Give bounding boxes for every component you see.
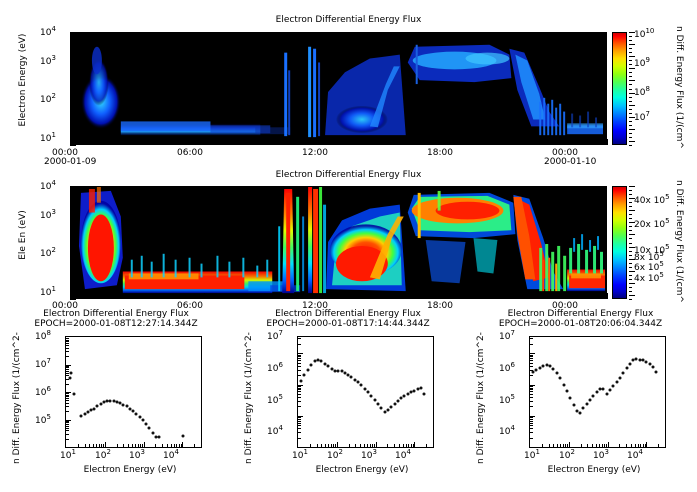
spectrogram-middle-xtick (365, 295, 366, 299)
spectrum-2-subtitle: EPOCH=2000-01-08T17:14:44.344Z (232, 319, 464, 329)
axis-tick (298, 428, 301, 429)
axis-tick (414, 442, 415, 447)
axis-tick (349, 444, 350, 447)
spectrum-2-xlabel: Electron Energy (eV) (272, 465, 452, 475)
data-point (182, 435, 185, 438)
spectrogram-top-ytick-2: 102 (40, 95, 56, 105)
spectrogram-middle-colorbar (612, 186, 627, 299)
axis-tick (530, 425, 533, 426)
data-point (595, 390, 598, 393)
data-point (148, 426, 151, 429)
axis-tick (530, 388, 533, 389)
spectrogram-middle-xtick (500, 295, 501, 299)
spectrogram-middle-ylabel: Ele En (eV) (18, 190, 28, 280)
axis-tick (298, 423, 301, 424)
axis-tick (66, 396, 69, 397)
spectrogram-middle-xtick (231, 295, 232, 299)
spectrogram-middle-colorbar-tick (629, 287, 632, 288)
axis-tick (66, 356, 69, 357)
spectrogram-middle-ytick (70, 274, 73, 275)
axis-tick (530, 338, 533, 339)
spectrogram-middle-ytick (70, 276, 73, 277)
spectrogram-top-xtick (231, 141, 232, 145)
axis-tick (298, 388, 301, 389)
spectrogram-middle-colorbar-tick-4: 4x 105 (634, 274, 664, 284)
spectrogram-top-colorbar-tick (629, 129, 635, 130)
axis-tick (66, 421, 69, 422)
spectrogram-top-ytick (70, 60, 73, 61)
axis-tick (337, 442, 338, 447)
axis-tick (179, 444, 180, 447)
spectrogram-top-colorbar-tick (629, 68, 635, 69)
panel-spectrogram-top: Electron Differential Energy Flux Electr… (0, 0, 697, 175)
spectrogram-middle-ytick (70, 192, 73, 193)
spectrogram-middle-xtick (473, 293, 474, 299)
axis-tick (298, 397, 301, 398)
axis-tick (66, 434, 69, 435)
axis-tick (403, 444, 404, 447)
spectrogram-middle-ytick (70, 237, 73, 238)
axis-tick (530, 419, 533, 420)
spectrogram-top-ytick (70, 85, 73, 86)
axis-tick (530, 401, 533, 402)
spectrogram-top-ytick (70, 38, 73, 39)
axis-tick (155, 444, 156, 447)
spectrogram-middle-xtick (607, 293, 608, 299)
spectrogram-middle-image (71, 187, 606, 298)
axis-tick (658, 444, 659, 447)
data-point (535, 368, 538, 371)
axis-tick (530, 353, 535, 354)
axis-tick (530, 432, 533, 433)
axis-tick (530, 356, 533, 357)
spectrogram-top-xtick (339, 139, 340, 145)
axis-tick (298, 355, 301, 356)
axis-tick (406, 444, 407, 447)
spectrum-2-ytick-7: 107 (267, 332, 283, 342)
axis-tick (530, 370, 533, 371)
spectrogram-top-ytick (70, 80, 76, 81)
spectrogram-top-ylabel: Electron Energy (eV) (18, 20, 28, 140)
spectrum-1-xtick-2: 102 (95, 451, 111, 461)
axis-tick (563, 444, 564, 447)
axis-tick (66, 341, 69, 342)
spectrogram-top-ytick (70, 135, 73, 136)
spectrum-1-xlabel: Electron Energy (eV) (40, 465, 220, 475)
spectrogram-top-ytick (70, 81, 73, 82)
spectrogram-top-colorbar-tick-10: 1010 (634, 30, 654, 40)
axis-tick (194, 444, 195, 447)
spectrogram-middle-colorbar-tick (629, 275, 632, 276)
axis-tick (132, 444, 133, 447)
axis-tick (66, 422, 69, 423)
axis-tick (596, 444, 597, 447)
data-point (628, 362, 631, 365)
data-point (602, 387, 605, 390)
axis-tick (66, 345, 69, 346)
spectrogram-middle-ytick (70, 214, 73, 215)
axis-tick (298, 421, 301, 422)
spectrogram-top-ytick (70, 32, 73, 33)
spectrogram-top-colorbar-tick (629, 80, 635, 81)
spectrogram-top-plot-area (70, 32, 607, 145)
spectrogram-top-colorbar-tick (629, 64, 632, 65)
axis-tick (530, 386, 533, 387)
spectrogram-top-title: Electron Differential Energy Flux (0, 15, 697, 25)
axis-tick (138, 444, 139, 447)
spectrogram-top-ytick (70, 53, 73, 54)
axis-tick (66, 366, 69, 367)
data-point (552, 367, 555, 370)
spectrogram-top-ytick (70, 93, 73, 94)
axis-tick (631, 444, 632, 447)
spectrogram-middle-colorbar-tick (629, 255, 632, 256)
spectrogram-middle-xtick (124, 295, 125, 299)
axis-tick (560, 444, 561, 447)
axis-tick (66, 395, 69, 396)
spectrogram-top-colorbar-tick (629, 60, 632, 61)
data-point (366, 391, 369, 394)
spectrogram-top-colorbar-tick (629, 76, 632, 77)
data-point (615, 381, 618, 384)
data-point (592, 394, 595, 397)
axis-tick (66, 379, 69, 380)
data-point (310, 363, 313, 366)
axis-tick (66, 393, 69, 394)
spectrogram-middle-colorbar-tick (629, 263, 632, 264)
spectrogram-middle-xtick (392, 295, 393, 299)
axis-tick (66, 369, 69, 370)
spectrum-3-subtitle: EPOCH=2000-01-08T20:06:04.344Z (464, 319, 697, 329)
spectrogram-top-colorbar (612, 32, 627, 145)
axis-tick (569, 442, 570, 447)
data-point (141, 419, 144, 422)
spectrogram-middle-colorbar-tick (629, 279, 632, 280)
spectrogram-top-xtick (446, 141, 447, 145)
spectrum-1-ylabel: n Diff. Energy Flux (1/(cm^2- (12, 323, 22, 473)
data-point (380, 407, 383, 410)
spectrogram-middle-ytick (70, 283, 73, 284)
spectrogram-top-colorbar-tick (629, 101, 632, 102)
data-point (572, 404, 575, 407)
axis-tick (530, 358, 533, 359)
axis-tick (66, 343, 69, 344)
data-point (390, 406, 393, 409)
spectrogram-top-xtick (258, 141, 259, 145)
data-point (135, 412, 138, 415)
spectrogram-top-colorbar-label: n Diff. Energy Flux (1/(cm^ (674, 26, 684, 149)
axis-tick (78, 444, 79, 447)
axis-tick (167, 444, 168, 447)
spectrogram-top-xtick (97, 141, 98, 145)
axis-tick (298, 394, 301, 395)
spectrogram-top-xtick (151, 141, 152, 145)
axis-tick (581, 444, 582, 447)
spectrum-1-title: Electron Differential Energy Flux (0, 309, 232, 319)
axis-tick (66, 384, 69, 385)
spectrogram-top-ytick (70, 64, 73, 65)
axis-tick (387, 444, 388, 447)
spectrogram-middle-ytick (70, 186, 73, 187)
spectrogram-middle-ytick (70, 251, 73, 252)
axis-tick (66, 406, 69, 407)
data-point (357, 381, 360, 384)
axis-tick (66, 348, 69, 349)
axis-tick (364, 444, 365, 447)
spectrogram-middle-ytick (70, 244, 73, 245)
spectrogram-top-colorbar-tick (629, 141, 635, 142)
data-point (555, 372, 558, 375)
axis-tick (298, 370, 301, 371)
axis-tick (99, 444, 100, 447)
axis-tick (66, 420, 71, 421)
spectrogram-middle-ytick (70, 257, 73, 258)
spectrogram-top-xtick (607, 139, 608, 145)
axis-tick (530, 366, 533, 367)
axis-tick (298, 338, 301, 339)
spectrum-2-ytick-4: 104 (267, 427, 283, 437)
data-point (370, 394, 373, 397)
spectrogram-middle-colorbar-tick (629, 295, 635, 296)
spectrogram-top-xtick (526, 141, 527, 145)
spectrogram-middle-ytick (70, 211, 73, 212)
spectrogram-top-colorbar-tick-7: 107 (634, 113, 650, 123)
data-point (400, 397, 403, 400)
axis-tick (426, 444, 427, 447)
spectrum-1-xtick-4: 104 (163, 451, 179, 461)
spectrum-1-plot-area (65, 336, 202, 448)
axis-tick (93, 444, 94, 447)
axis-tick (592, 444, 593, 447)
spectrogram-middle-ytick (70, 239, 73, 240)
spectrum-3-ylabel: n Diff. Energy Flux (1/(cm^2- (476, 323, 486, 473)
axis-tick (331, 444, 332, 447)
axis-tick (171, 444, 172, 447)
spectrogram-middle-colorbar-tick (629, 299, 632, 300)
spectrogram-top-colorbar-tick (629, 72, 632, 73)
spectrogram-top-colorbar-tick (629, 84, 632, 85)
data-point (73, 392, 76, 395)
spectrogram-middle-xtick (312, 295, 313, 299)
spectrogram-top-xtick-2: 12:00 (302, 148, 328, 158)
axis-tick (608, 442, 609, 447)
data-point (585, 402, 588, 405)
axis-tick (530, 344, 533, 345)
axis-tick (298, 416, 303, 417)
spectrogram-top-xtick (365, 141, 366, 145)
spectrogram-top-colorbar-tick (629, 125, 632, 126)
axis-tick (182, 442, 183, 447)
spectrogram-middle-ytick-2: 102 (40, 249, 56, 259)
spectrogram-top-date-right: 2000-01-10 (544, 157, 596, 167)
axis-tick (66, 365, 71, 366)
data-point (655, 371, 658, 374)
spectrogram-top-ytick (70, 83, 73, 84)
axis-tick (542, 444, 543, 447)
spectrogram-middle-colorbar-tick (629, 271, 635, 272)
data-point (423, 392, 426, 395)
spectrogram-top-colorbar-tick (629, 113, 632, 114)
axis-tick (370, 444, 371, 447)
spectrogram-middle-colorbar-tick (629, 214, 632, 215)
axis-tick (298, 386, 301, 387)
axis-tick (530, 360, 533, 361)
axis-tick (85, 444, 86, 447)
data-point (569, 397, 572, 400)
axis-tick (66, 430, 69, 431)
axis-tick (530, 397, 533, 398)
spectrogram-top-ytick (70, 118, 73, 119)
spectrogram-top-ytick (70, 120, 73, 121)
spectrogram-middle-ytick (70, 247, 73, 248)
data-point (648, 362, 651, 365)
axis-tick (66, 428, 69, 429)
axis-tick (66, 400, 69, 401)
data-point (300, 379, 303, 382)
spectrogram-top-xtick (204, 139, 205, 145)
spectrogram-top-ytick (70, 57, 73, 58)
spectrogram-top-ytick (70, 51, 73, 52)
spectrogram-top-colorbar-tick (629, 56, 635, 57)
spectrogram-middle-colorbar-tick (629, 247, 635, 248)
axis-tick (557, 444, 558, 447)
axis-tick (638, 444, 639, 447)
axis-tick (317, 444, 318, 447)
data-point (625, 367, 628, 370)
axis-tick (66, 367, 69, 368)
spectrogram-top-colorbar-gradient (613, 33, 626, 144)
axis-tick (530, 391, 533, 392)
panel-spectrum-3: Electron Differential Energy Flux EPOCH=… (464, 305, 697, 492)
axis-tick (372, 444, 373, 447)
axis-tick (135, 444, 136, 447)
spectrogram-top-xtick-1: 06:00 (177, 148, 203, 158)
spectrogram-middle-colorbar-tick-40: 40x 105 (634, 196, 670, 206)
axis-tick (174, 444, 175, 447)
spectrum-2-ytick-6: 106 (267, 364, 283, 374)
spectrogram-middle-colorbar-tick (629, 198, 635, 199)
spectrogram-top-ytick (70, 87, 73, 88)
axis-tick (549, 444, 550, 447)
data-point (86, 411, 89, 414)
spectrogram-top-xtick (473, 139, 474, 145)
spectrogram-middle-colorbar-gradient (613, 187, 626, 298)
spectrogram-top-colorbar-tick-9: 109 (634, 59, 650, 69)
spectrum-3-ytick-4: 104 (499, 427, 515, 437)
spectrogram-top-image (71, 33, 606, 144)
spectrogram-middle-colorbar-tick (629, 234, 635, 235)
spectrum-1-ytick-7: 107 (35, 360, 51, 370)
axis-tick (298, 360, 301, 361)
axis-tick (298, 389, 301, 390)
spectrogram-top-ytick (70, 113, 76, 114)
spectrogram-middle-colorbar-tick (629, 226, 632, 227)
spectrum-2-plot-area (297, 336, 434, 448)
axis-tick (553, 444, 554, 447)
spectrogram-middle-ytick-1: 101 (40, 288, 56, 298)
axis-tick (355, 444, 356, 447)
spectrogram-top-colorbar-tick (629, 133, 632, 134)
axis-tick (298, 391, 301, 392)
spectrum-2-xtick-3: 103 (361, 451, 377, 461)
axis-tick (66, 340, 69, 341)
axis-tick (105, 442, 106, 447)
spectrogram-middle-xtick (97, 295, 98, 299)
axis-tick (360, 444, 361, 447)
axis-tick (66, 392, 71, 393)
spectrogram-top-ytick (70, 116, 73, 117)
spectrogram-top-xtick (392, 141, 393, 145)
data-point (579, 411, 582, 414)
axis-tick (89, 444, 90, 447)
spectrogram-top-colorbar-tick (629, 89, 632, 90)
spectrogram-middle-plot-area (70, 186, 607, 299)
spectrogram-top-ytick-4: 104 (40, 28, 56, 38)
spectrogram-middle-ytick (70, 234, 76, 235)
axis-tick (123, 444, 124, 447)
spectrogram-top-ytick-3: 103 (40, 57, 56, 67)
spectrogram-middle-ytick (70, 289, 73, 290)
spectrogram-top-ytick (70, 48, 76, 49)
spectrogram-middle-xtick (339, 293, 340, 299)
spectrogram-top-colorbar-tick (629, 48, 632, 49)
spectrogram-middle-xtick (204, 293, 205, 299)
spectrum-2-xtick-4: 104 (395, 451, 411, 461)
spectrogram-top-colorbar-tick (629, 52, 632, 53)
data-point (562, 383, 565, 386)
spectrum-2-ylabel: n Diff. Energy Flux (1/(cm^2- (244, 323, 254, 473)
data-point (608, 389, 611, 392)
spectrogram-top-ytick (70, 145, 76, 146)
axis-tick (530, 389, 533, 390)
axis-tick (66, 373, 69, 374)
axis-tick (66, 371, 69, 372)
axis-tick (325, 444, 326, 447)
axis-tick (298, 366, 301, 367)
spectrogram-middle-colorbar-tick (629, 210, 635, 211)
data-point (393, 403, 396, 406)
axis-tick (640, 444, 641, 447)
axis-tick (399, 444, 400, 447)
spectrum-3-xtick-3: 103 (593, 451, 609, 461)
spectrogram-middle-colorbar-tick (629, 206, 632, 207)
axis-tick (367, 444, 368, 447)
spectrogram-middle-colorbar-tick (629, 190, 632, 191)
axis-tick (530, 355, 533, 356)
spectrogram-middle-colorbar-tick (629, 243, 632, 244)
axis-tick (530, 375, 533, 376)
spectrogram-middle-colorbar-tick (629, 238, 632, 239)
spectrogram-middle-colorbar-tick (629, 186, 635, 187)
axis-tick (66, 424, 69, 425)
spectrogram-top-colorbar-tick-8: 108 (634, 88, 650, 98)
spectrogram-top-date-left: 2000-01-09 (44, 157, 96, 167)
spectrogram-top-xtick (553, 141, 554, 145)
axis-tick (298, 385, 303, 386)
data-point (605, 392, 608, 395)
axis-tick (298, 406, 301, 407)
spectrum-1-xtick-1: 101 (60, 451, 76, 461)
spectrogram-top-ytick (70, 49, 73, 50)
data-point (70, 372, 73, 375)
spectrogram-top-colorbar-tick (629, 97, 632, 98)
data-point (622, 372, 625, 375)
spectrogram-middle-xtick (285, 295, 286, 299)
data-point (612, 385, 615, 388)
axis-tick (530, 428, 533, 429)
spectrogram-top-xtick (285, 141, 286, 145)
spectrogram-middle-colorbar-tick (629, 194, 632, 195)
